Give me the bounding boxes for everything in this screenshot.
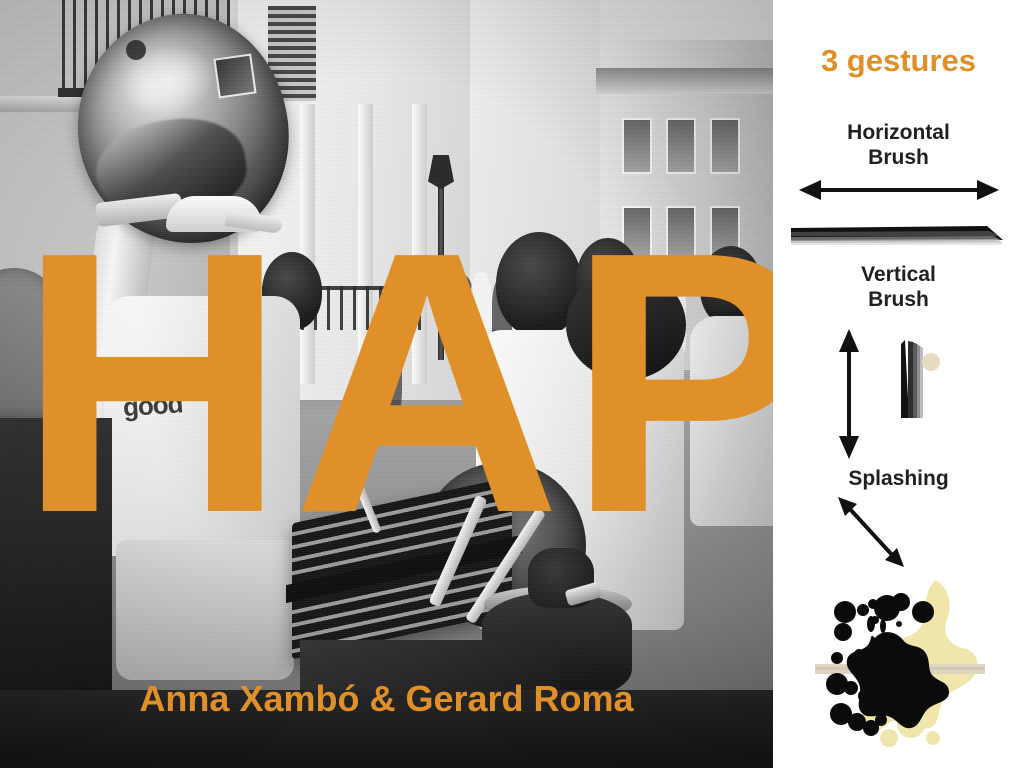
gesture-label-line1: Vertical — [773, 262, 1024, 287]
gesture-label-line2: Brush — [773, 145, 1024, 170]
photo-building-right-roof — [596, 68, 773, 94]
gesture-label-line1: Splashing — [773, 466, 1024, 491]
photo-sousaphone-sticker — [213, 54, 256, 99]
photo-sousaphone-logo — [126, 40, 146, 60]
vertical-brush-stroke-icon — [897, 338, 957, 430]
gesture-label-horizontal-brush: Horizontal Brush — [773, 120, 1024, 170]
slide-root: butter good — [0, 0, 1024, 768]
gesture-label-line1: Horizontal — [773, 120, 1024, 145]
gesture-label-line2: Brush — [773, 287, 1024, 312]
vertical-double-arrow-icon — [835, 328, 863, 460]
authors-line: Anna Xambó & Gerard Roma — [0, 678, 773, 720]
photo-window — [668, 120, 694, 172]
photo-window — [624, 120, 650, 172]
diagonal-double-arrow-icon — [835, 494, 907, 570]
gesture-label-splashing: Splashing — [773, 466, 1024, 491]
photo-window — [712, 120, 738, 172]
ink-splatter-icon — [815, 572, 985, 750]
page-title: HAP — [18, 196, 773, 568]
horizontal-double-arrow-icon — [797, 176, 1001, 204]
background-photo: butter good — [0, 0, 773, 768]
gestures-panel: 3 gestures Horizontal Brush Verti — [773, 0, 1024, 768]
gestures-title: 3 gestures — [773, 44, 1024, 78]
gesture-label-vertical-brush: Vertical Brush — [773, 262, 1024, 312]
horizontal-brush-stroke-icon — [789, 222, 1009, 250]
